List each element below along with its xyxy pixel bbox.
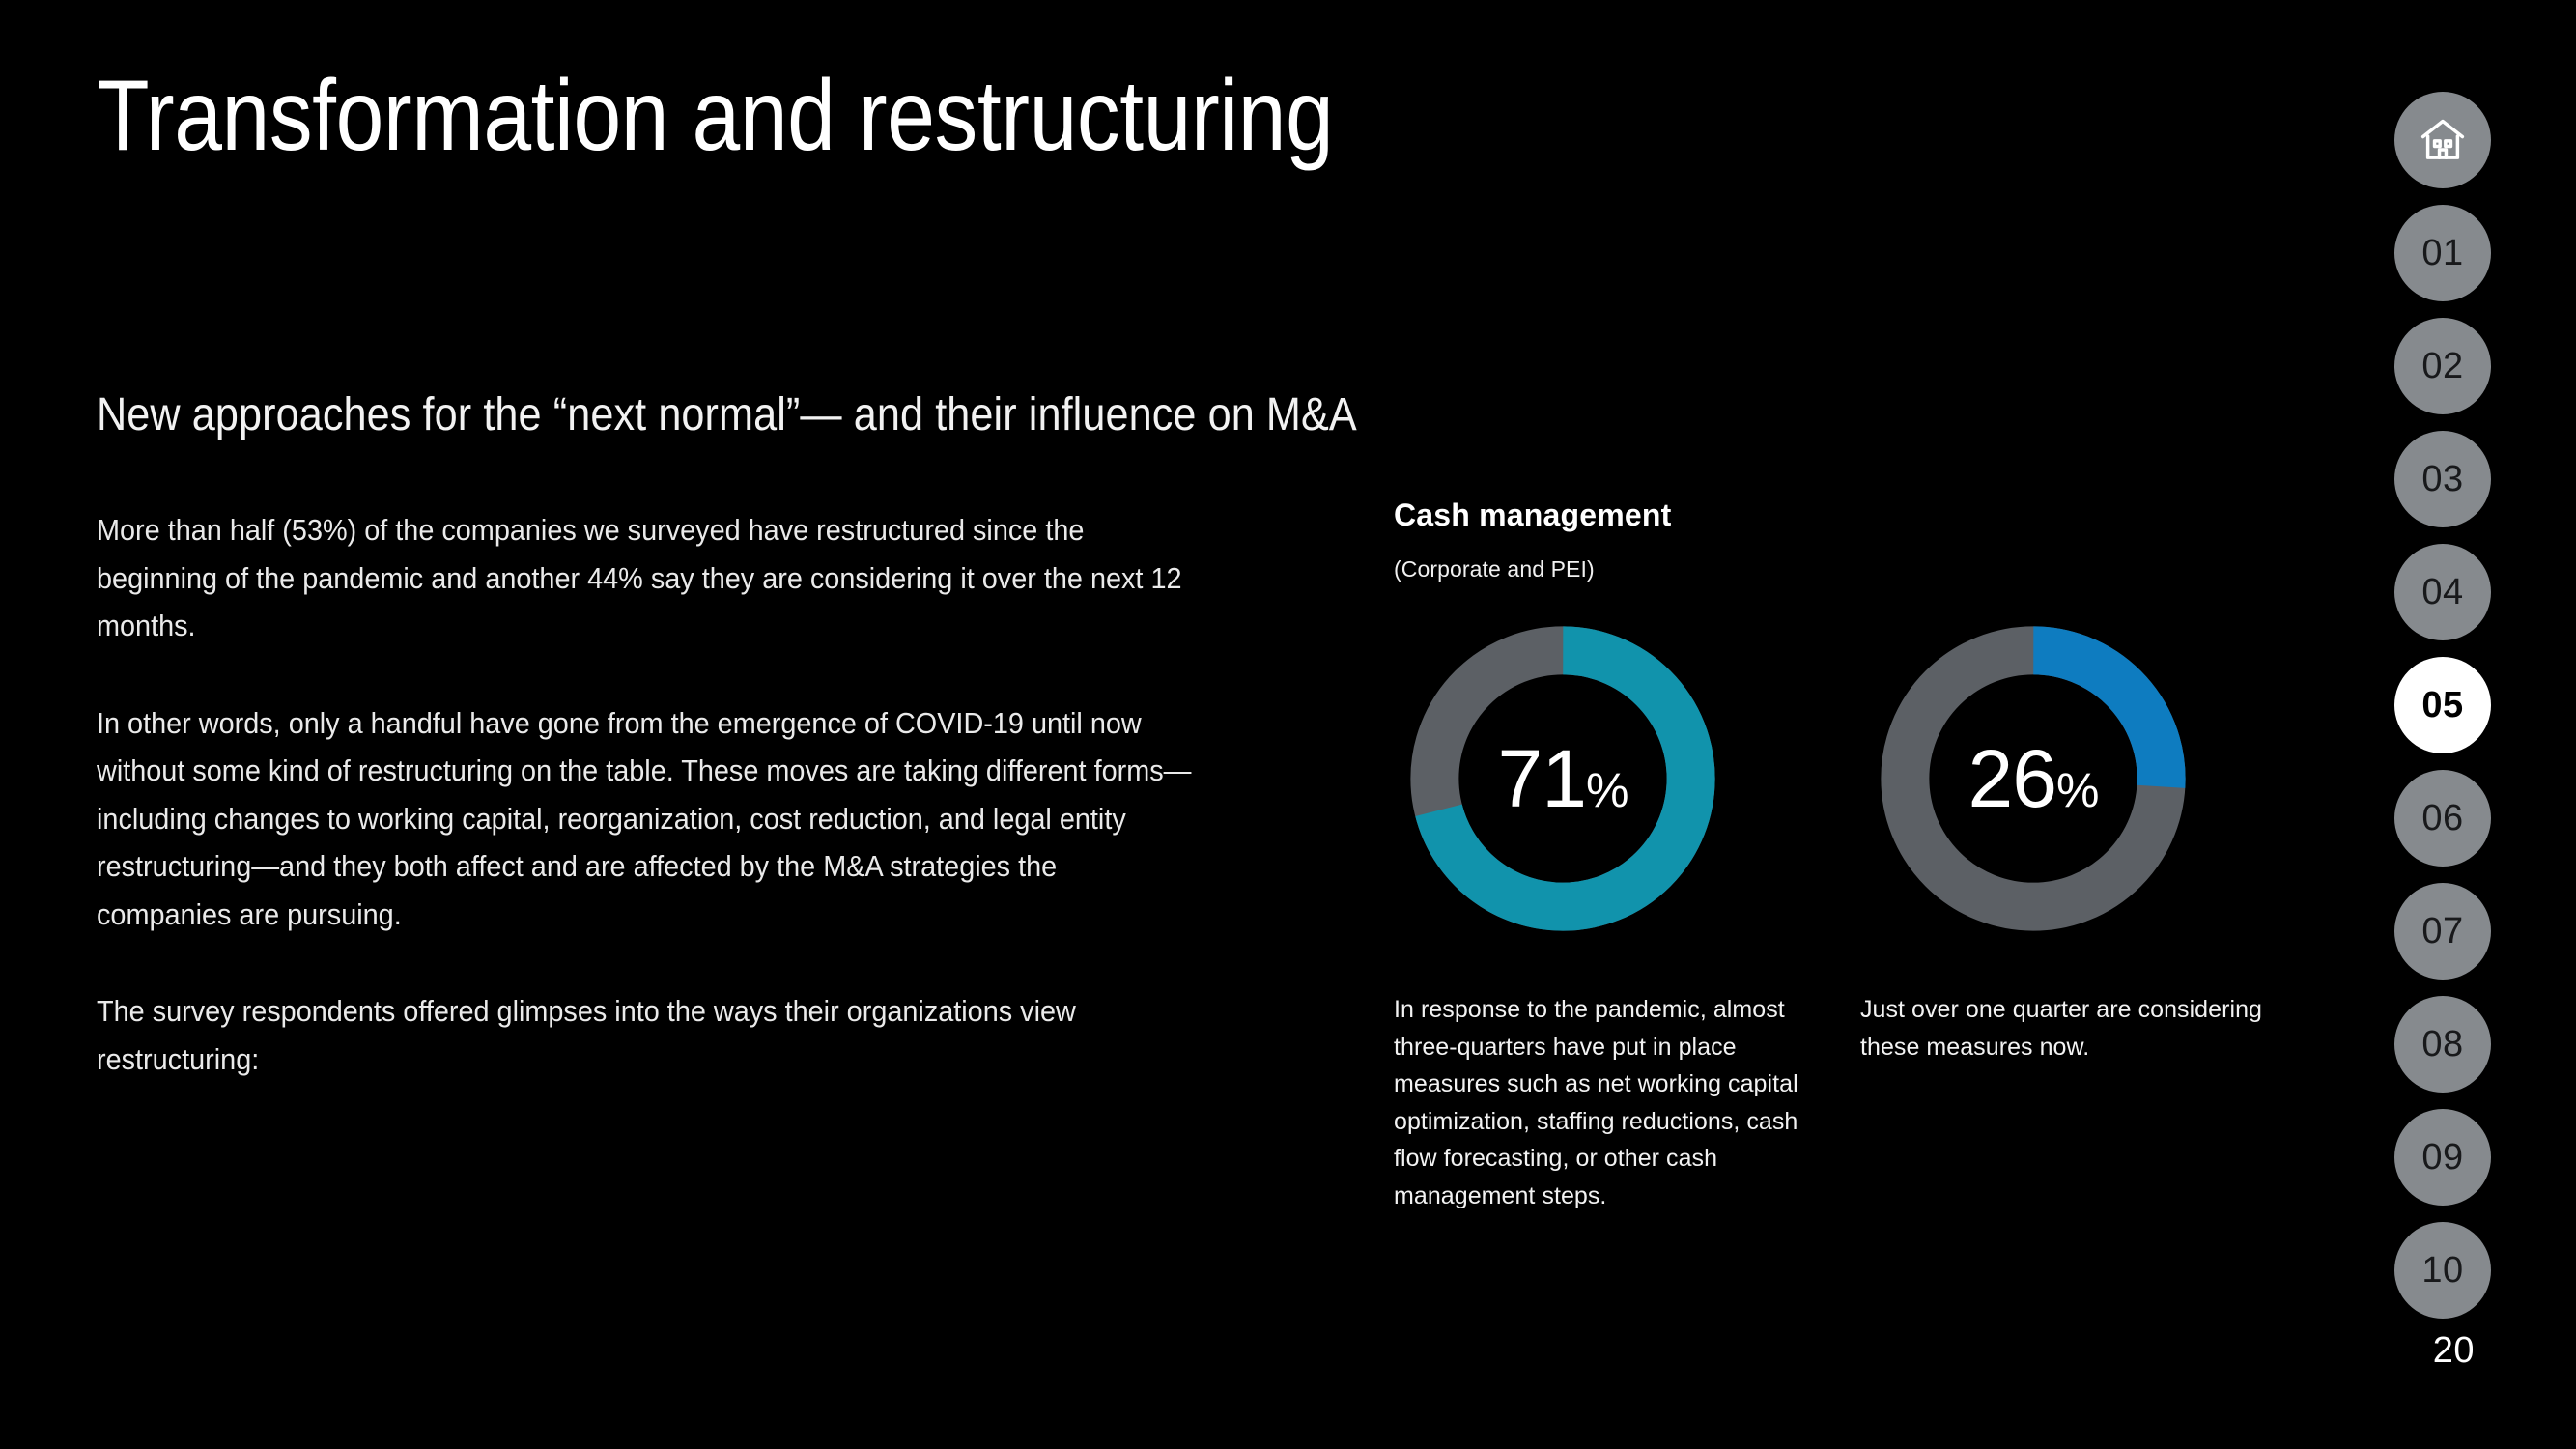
body-paragraph-1: More than half (53%) of the companies we… bbox=[97, 506, 1198, 650]
nav-item-05[interactable]: 05 bbox=[2394, 657, 2491, 753]
donut-caption-2: Just over one quarter are considering th… bbox=[1860, 991, 2295, 1065]
chart-subtitle: (Corporate and PEI) bbox=[1394, 556, 2321, 582]
section-nav-rail[interactable]: 01 02 03 04 05 06 07 08 09 10 bbox=[2394, 92, 2491, 1335]
page-number: 20 bbox=[2433, 1330, 2475, 1372]
nav-item-home[interactable] bbox=[2394, 92, 2491, 188]
slide-canvas: Transformation and restructuring New app… bbox=[0, 0, 2576, 1449]
donut-chart-restructured-already: 71% bbox=[1394, 610, 1732, 948]
home-icon bbox=[2418, 115, 2468, 165]
chart-title: Cash management bbox=[1394, 498, 2321, 532]
nav-item-06[interactable]: 06 bbox=[2394, 770, 2491, 867]
cash-management-panel: Cash management (Corporate and PEI) 71% bbox=[1394, 498, 2321, 991]
nav-item-08[interactable]: 08 bbox=[2394, 996, 2491, 1093]
donut-graphic: 71% bbox=[1394, 610, 1732, 948]
donut-chart-considering-now: 26% bbox=[1864, 610, 2202, 948]
nav-item-10[interactable]: 10 bbox=[2394, 1222, 2491, 1319]
nav-item-01[interactable]: 01 bbox=[2394, 205, 2491, 301]
donut-svg-1 bbox=[1394, 610, 1732, 948]
body-paragraph-2: In other words, only a handful have gone… bbox=[97, 699, 1198, 939]
body-paragraph-3: The survey respondents offered glimpses … bbox=[97, 987, 1198, 1083]
donut-graphic: 26% bbox=[1864, 610, 2202, 948]
section-subheading: New approaches for the “next normal”— an… bbox=[97, 388, 1357, 441]
nav-item-09[interactable]: 09 bbox=[2394, 1109, 2491, 1206]
page-title: Transformation and restructuring bbox=[97, 60, 1333, 172]
nav-item-03[interactable]: 03 bbox=[2394, 431, 2491, 527]
donut-caption-1: In response to the pandemic, almost thre… bbox=[1394, 991, 1799, 1214]
nav-item-02[interactable]: 02 bbox=[2394, 318, 2491, 414]
body-text-column: More than half (53%) of the companies we… bbox=[97, 506, 1198, 1083]
donut-chart-row: 71% 26% bbox=[1394, 610, 2321, 967]
nav-item-07[interactable]: 07 bbox=[2394, 883, 2491, 980]
donut-svg-2 bbox=[1864, 610, 2202, 948]
nav-item-04[interactable]: 04 bbox=[2394, 544, 2491, 640]
